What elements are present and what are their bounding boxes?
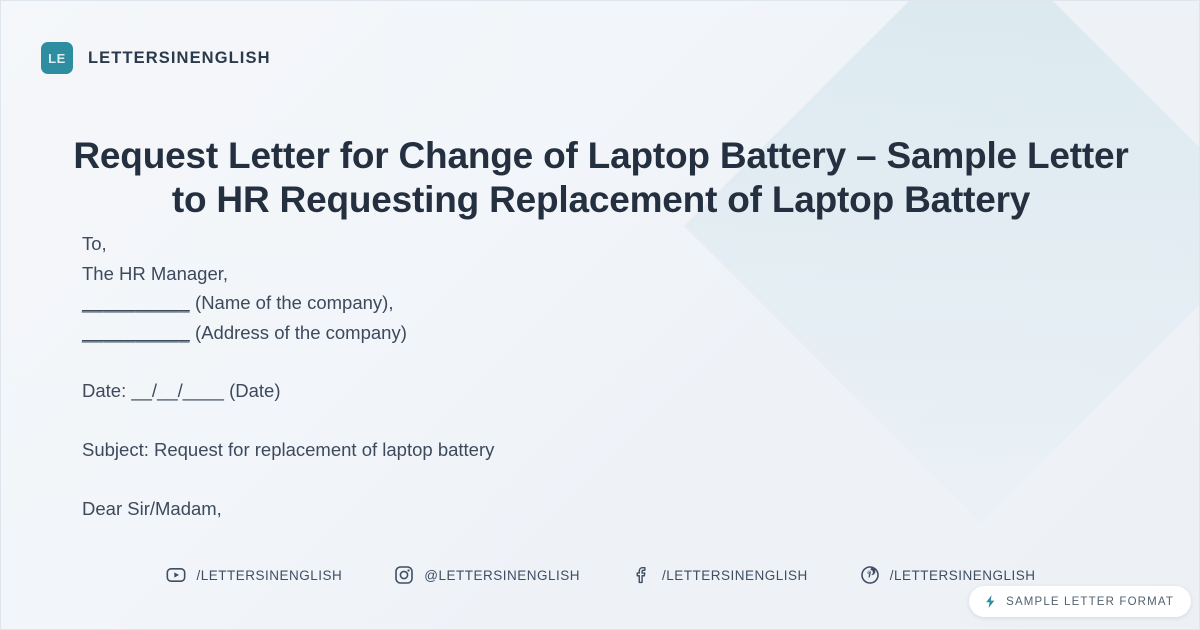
page-title: Request Letter for Change of Laptop Batt… <box>71 134 1131 222</box>
brand-name-label: LETTERSINENGLISH <box>88 49 271 68</box>
social-handle-pinterest: /LETTERSINENGLISH <box>890 568 1036 583</box>
company-label: (Name of the company), <box>190 292 394 313</box>
spacer-2 <box>82 406 982 435</box>
youtube-icon <box>166 565 186 585</box>
instagram-icon <box>394 565 414 585</box>
social-handle-facebook: /LETTERSINENGLISH <box>662 568 808 583</box>
pinterest-icon <box>860 565 880 585</box>
letter-body: To, The HR Manager, __________ (Name of … <box>82 229 982 523</box>
facebook-icon <box>632 565 652 585</box>
social-link-youtube[interactable]: /LETTERSINENGLISH <box>166 565 342 585</box>
social-link-instagram[interactable]: @LETTERSINENGLISH <box>394 565 580 585</box>
address-blank: __________ <box>82 322 190 343</box>
social-handle-youtube: /LETTERSINENGLISH <box>196 568 342 583</box>
letter-subject-line: Subject: Request for replacement of lapt… <box>82 435 982 465</box>
badge-label: SAMPLE LETTER FORMAT <box>1006 596 1174 608</box>
company-blank: __________ <box>82 292 190 313</box>
letter-recipient-text: The HR Manager, <box>82 263 228 284</box>
letter-preview-card: LE LETTERSINENGLISH Request Letter for C… <box>0 0 1200 630</box>
letter-company-line: __________ (Name of the company), <box>82 288 982 318</box>
social-link-facebook[interactable]: /LETTERSINENGLISH <box>632 565 808 585</box>
address-label: (Address of the company) <box>190 322 407 343</box>
letter-salutation-line: Dear Sir/Madam, <box>82 494 982 524</box>
letter-date-line: Date: __/__/____ (Date) <box>82 376 982 406</box>
letter-recipient-line: The HR Manager, <box>82 259 982 289</box>
brand-mark-icon: LE <box>41 42 73 74</box>
spacer-3 <box>82 465 982 494</box>
social-handle-instagram: @LETTERSINENGLISH <box>424 568 580 583</box>
letter-to-line: To, <box>82 229 982 259</box>
brand-logo[interactable]: LE LETTERSINENGLISH <box>41 42 271 74</box>
social-link-pinterest[interactable]: /LETTERSINENGLISH <box>860 565 1036 585</box>
social-links-bar: /LETTERSINENGLISH @LETTERSINENGLISH /LET… <box>1 565 1200 585</box>
lightning-bolt-icon <box>983 594 998 609</box>
spacer-1 <box>82 347 982 376</box>
sample-letter-format-badge[interactable]: SAMPLE LETTER FORMAT <box>969 586 1191 617</box>
letter-address-line: __________ (Address of the company) <box>82 318 982 348</box>
